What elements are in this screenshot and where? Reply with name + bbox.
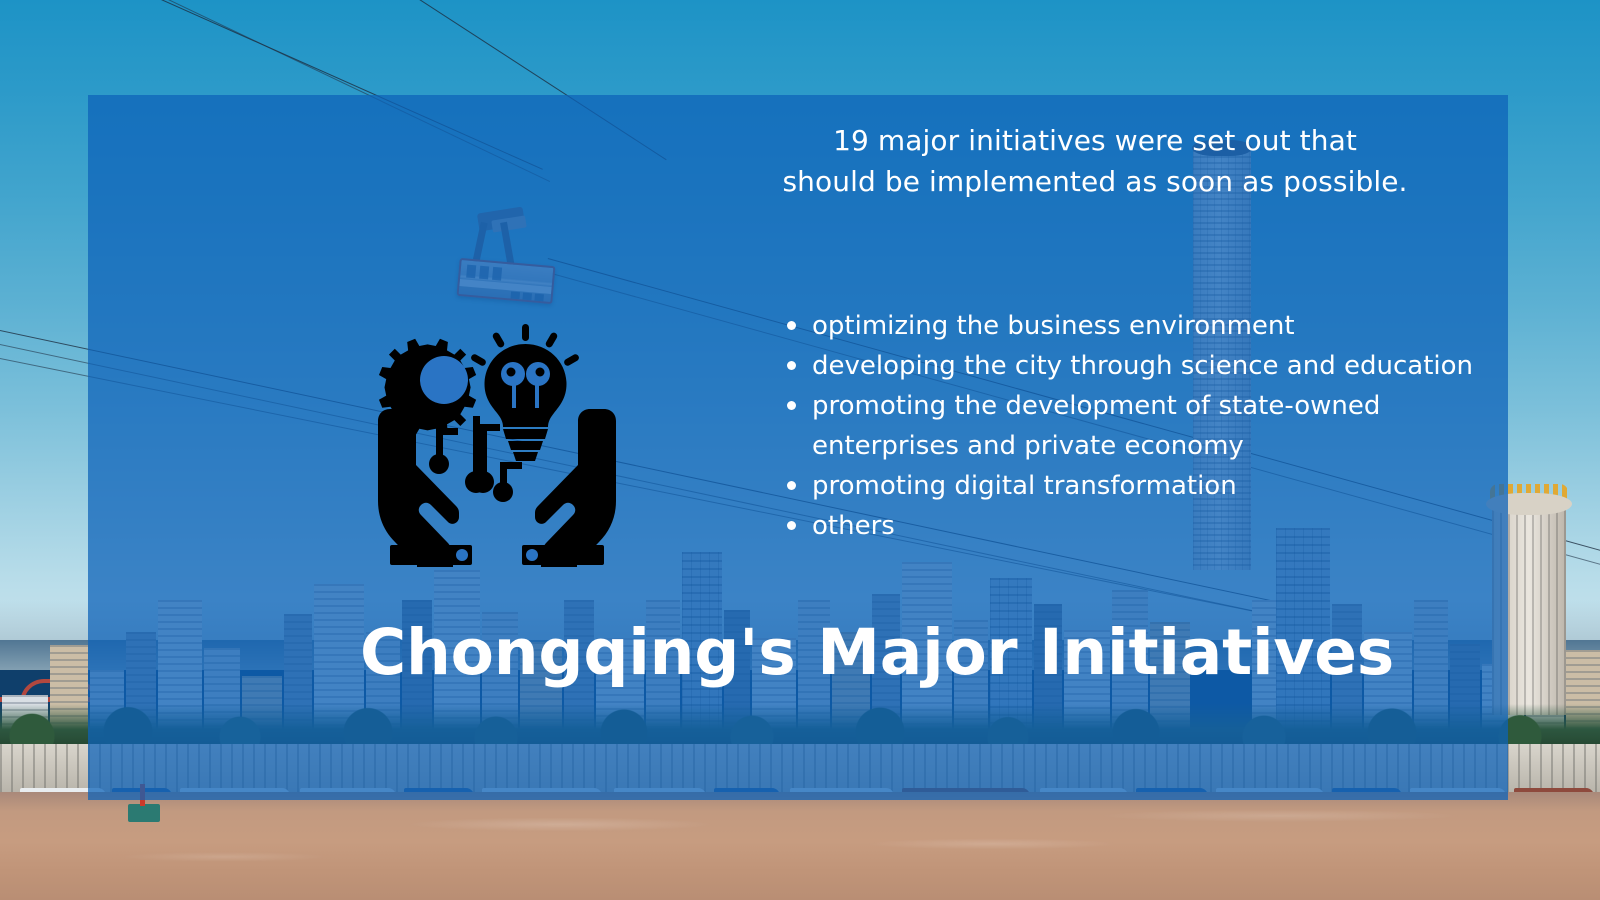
initiatives-list: optimizing the business environment deve… xyxy=(782,306,1482,546)
list-item-label: promoting digital transformation xyxy=(812,471,1237,501)
list-item: optimizing the business environment xyxy=(782,306,1482,346)
list-item: others xyxy=(782,506,1482,546)
yangtze-river xyxy=(0,792,1600,900)
heading-line-2: should be implemented as soon as possibl… xyxy=(700,161,1490,202)
list-item: promoting the development of state-owned… xyxy=(782,386,1482,466)
heading-line-1: 19 major initiatives were set out that xyxy=(700,120,1490,161)
river-buoy xyxy=(128,804,160,822)
list-item-label: optimizing the business environment xyxy=(812,311,1295,341)
bullet-dot-icon xyxy=(787,321,796,330)
heading-text: 19 major initiatives were set out that s… xyxy=(700,120,1490,202)
bullet-dot-icon xyxy=(787,521,796,530)
bullet-dot-icon xyxy=(787,361,796,370)
list-item: promoting digital transformation xyxy=(782,466,1482,506)
list-item-label: developing the city through science and … xyxy=(812,351,1473,381)
list-item-label: promoting the development of state-owned… xyxy=(812,391,1380,461)
hands-holding-gear-and-lightbulb-icon xyxy=(372,312,622,567)
list-item: developing the city through science and … xyxy=(782,346,1482,386)
bullet-dot-icon xyxy=(787,481,796,490)
bullet-dot-icon xyxy=(787,401,796,410)
list-item-label: others xyxy=(812,511,895,541)
page-title: Chongqing's Major Initiatives xyxy=(360,616,1260,689)
